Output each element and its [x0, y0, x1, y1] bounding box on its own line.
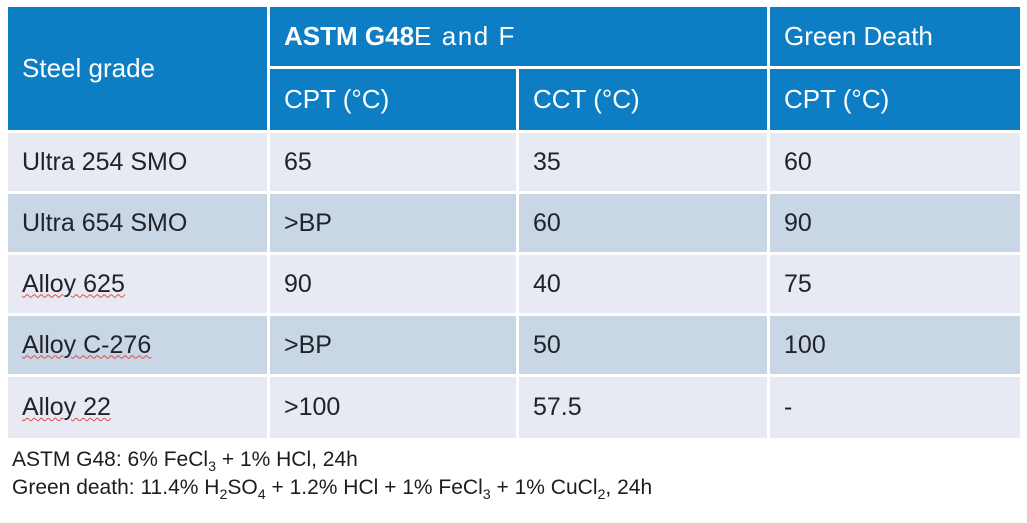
cell-astm-cpt: 90	[270, 255, 519, 316]
table-row: Alloy 22 >100 57.5 -	[8, 377, 1020, 438]
cell-green-cpt: 75	[770, 255, 1020, 316]
header-group-astm-tail: E and F	[414, 21, 516, 51]
cell-astm-cct: 57.5	[519, 377, 770, 438]
footnote-green-sub1: 4	[258, 487, 266, 503]
cell-steel-grade: Alloy 22	[8, 377, 270, 438]
header-group-green-death: Green Death	[770, 7, 1020, 69]
header-group-astm-g48: ASTM G48E and F	[270, 7, 770, 69]
footnote-green-sub0: 2	[219, 487, 227, 503]
footnote-astm-label: ASTM G48:	[12, 448, 122, 471]
cell-astm-cct: 50	[519, 316, 770, 377]
footnote-green-p1: SO	[227, 476, 257, 499]
cell-astm-cpt: >100	[270, 377, 519, 438]
cell-steel-grade: Alloy 625	[8, 255, 270, 316]
grade-label: Alloy C-276	[22, 331, 151, 359]
grade-label: Alloy 625	[22, 270, 125, 298]
table-header: Steel grade ASTM G48E and F Green Death …	[8, 7, 1020, 133]
table-row: Ultra 654 SMO >BP 60 90	[8, 194, 1020, 255]
table-row: Ultra 254 SMO 65 35 60	[8, 133, 1020, 194]
cell-green-cpt: 100	[770, 316, 1020, 377]
cell-green-cpt: 60	[770, 133, 1020, 194]
cell-steel-grade: Ultra 254 SMO	[8, 133, 270, 194]
cell-green-cpt: -	[770, 377, 1020, 438]
footnote-green-p2: + 1.2% HCl + 1% FeCl	[266, 476, 483, 499]
corrosion-resistance-table: Steel grade ASTM G48E and F Green Death …	[8, 7, 1020, 438]
footnote-green-death: Green death: 11.4% H2SO4 + 1.2% HCl + 1%…	[12, 474, 1012, 502]
footnote-astm-g48: ASTM G48: 6% FeCl3 + 1% HCl, 24h	[12, 446, 1012, 474]
header-green-cpt: CPT (°C)	[770, 69, 1020, 133]
cell-green-cpt: 90	[770, 194, 1020, 255]
table-row: Alloy C-276 >BP 50 100	[8, 316, 1020, 377]
cell-astm-cpt: >BP	[270, 316, 519, 377]
header-astm-cpt: CPT (°C)	[270, 69, 519, 133]
grade-label: Ultra 654 SMO	[22, 209, 187, 237]
footnote-astm-p1: + 1% HCl, 24h	[216, 448, 358, 471]
footnotes: ASTM G48: 6% FeCl3 + 1% HCl, 24h Green d…	[12, 446, 1012, 502]
cell-astm-cct: 60	[519, 194, 770, 255]
footnote-green-sub2: 3	[483, 487, 491, 503]
cell-astm-cpt: 65	[270, 133, 519, 194]
cell-astm-cpt: >BP	[270, 194, 519, 255]
header-row-top: Steel grade ASTM G48E and F Green Death	[8, 7, 1020, 69]
cell-steel-grade: Alloy C-276	[8, 316, 270, 377]
cell-steel-grade: Ultra 654 SMO	[8, 194, 270, 255]
cell-astm-cct: 40	[519, 255, 770, 316]
grade-label: Alloy 22	[22, 393, 111, 421]
footnote-astm-sub0: 3	[208, 459, 216, 475]
header-group-astm-lead: ASTM G48	[284, 21, 414, 51]
header-steel-grade: Steel grade	[8, 7, 270, 133]
footnote-green-sub3: 2	[597, 487, 605, 503]
footnote-astm-p0: 6% FeCl	[128, 448, 209, 471]
slide-canvas: Steel grade ASTM G48E and F Green Death …	[0, 0, 1027, 523]
footnote-green-p3: + 1% CuCl	[491, 476, 598, 499]
table-body: Ultra 254 SMO 65 35 60 Ultra 654 SMO >BP…	[8, 133, 1020, 438]
footnote-green-label: Green death:	[12, 476, 135, 499]
header-astm-cct: CCT (°C)	[519, 69, 770, 133]
table-row: Alloy 625 90 40 75	[8, 255, 1020, 316]
grade-label: Ultra 254 SMO	[22, 148, 187, 176]
footnote-green-p4: , 24h	[605, 476, 652, 499]
footnote-green-p0: 11.4% H	[140, 476, 219, 499]
cell-astm-cct: 35	[519, 133, 770, 194]
